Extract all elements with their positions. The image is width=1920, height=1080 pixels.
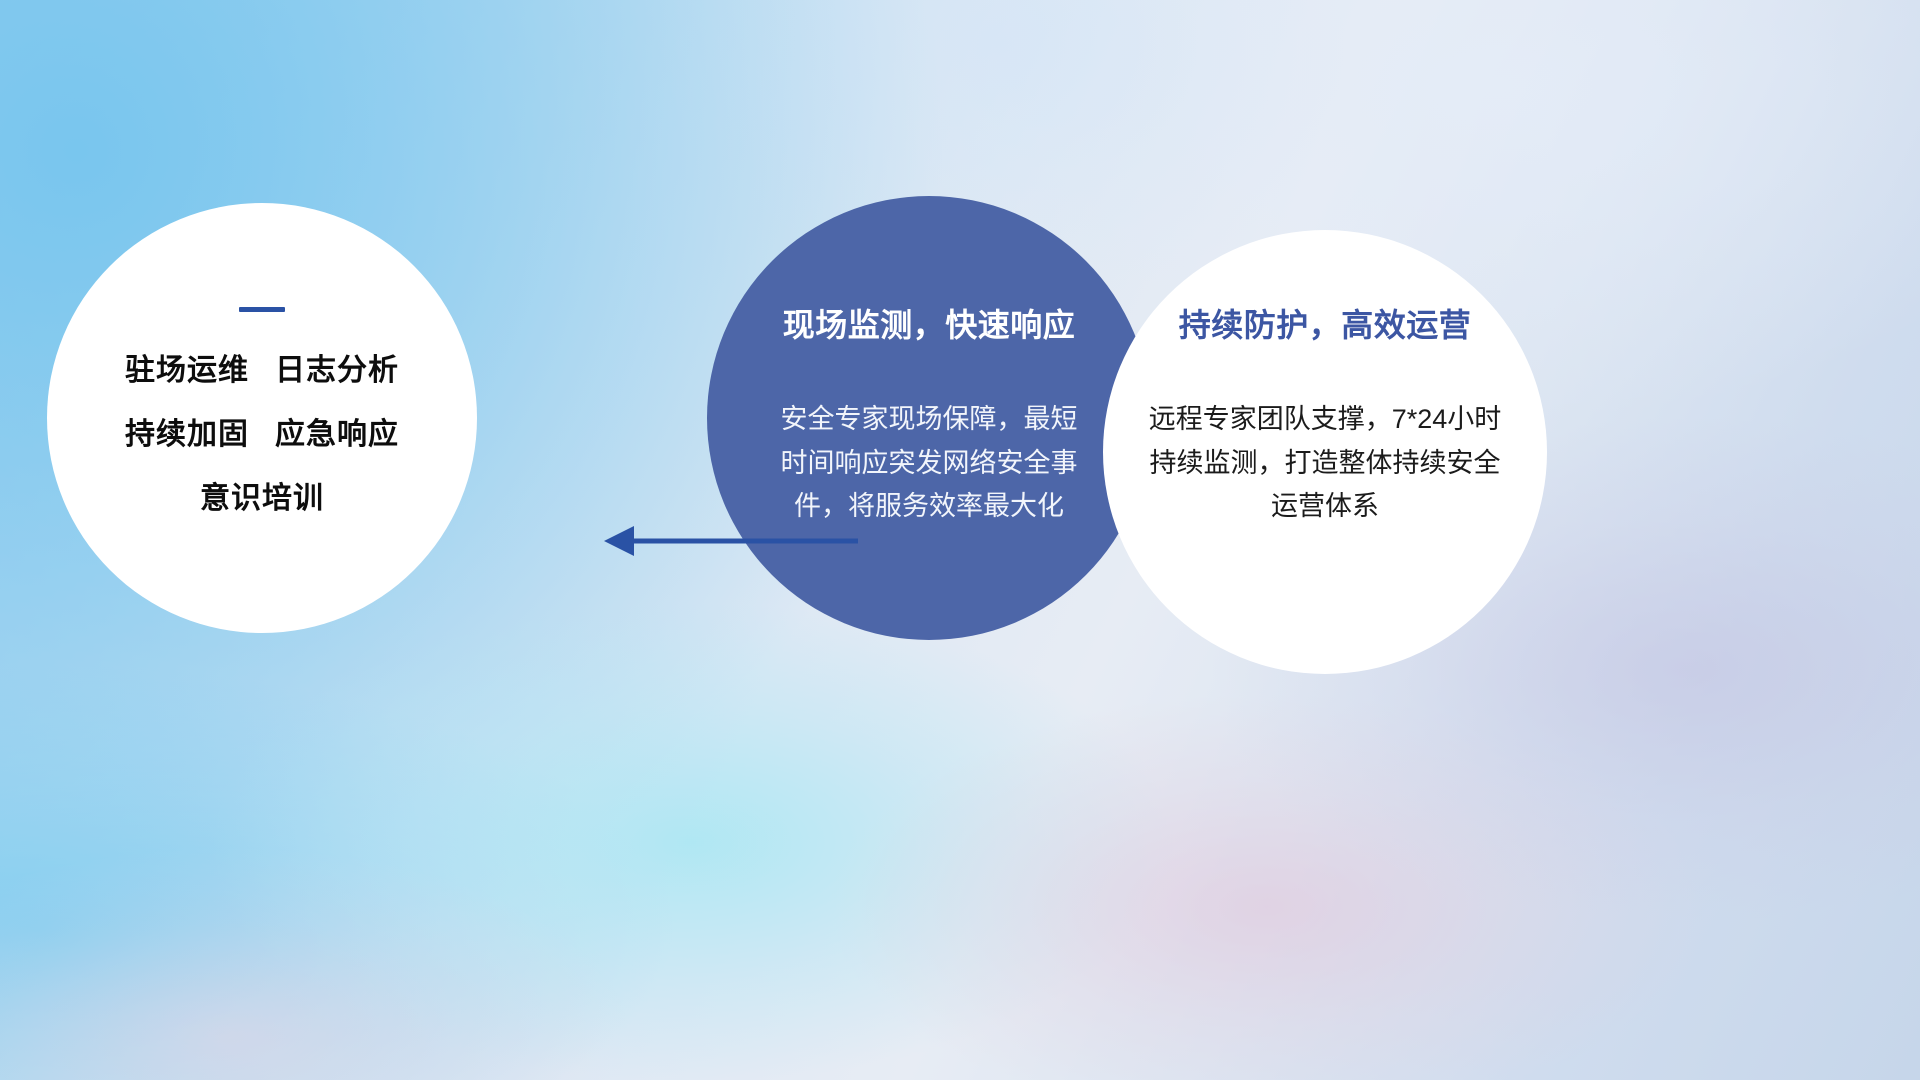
- right-circle-title: 持续防护，高效运营: [1179, 300, 1472, 346]
- middle-circle-body: 安全专家现场保障，最短时间响应突发网络安全事件，将服务效率最大化: [779, 398, 1079, 529]
- slide-canvas: 驻场运维日志分析 持续加固应急响应 意识培训 现场监测，快速响应 安全专家现场保…: [0, 0, 1920, 1080]
- left-circle-line-1: 驻场运维日志分析: [125, 356, 399, 386]
- left-circle-divider: [239, 307, 285, 312]
- right-circle-content: 持续防护，高效运营 远程专家团队支撑，7*24小时持续监测，打造整体持续安全运营…: [1103, 230, 1547, 674]
- left-circle-content: 驻场运维日志分析 持续加固应急响应 意识培训: [47, 203, 477, 633]
- left-circle-line-3: 意识培训: [200, 484, 324, 514]
- left-circle-tag-yishipeixun: 意识培训: [200, 482, 324, 515]
- left-circle-tag-yingjixiangying: 应急响应: [275, 418, 399, 451]
- left-circle-tag-rizhifenxi: 日志分析: [275, 354, 399, 387]
- left-circle-line-2: 持续加固应急响应: [125, 420, 399, 450]
- middle-circle-content: 现场监测，快速响应 安全专家现场保障，最短时间响应突发网络安全事件，将服务效率最…: [707, 196, 1151, 640]
- left-circle-tag-zhuchangyunwei: 驻场运维: [125, 354, 249, 387]
- left-circle-tag-chixujiagu: 持续加固: [125, 418, 249, 451]
- middle-circle-title: 现场监测，快速响应: [783, 300, 1076, 346]
- right-circle-body: 远程专家团队支撑，7*24小时持续监测，打造整体持续安全运营体系: [1145, 398, 1505, 529]
